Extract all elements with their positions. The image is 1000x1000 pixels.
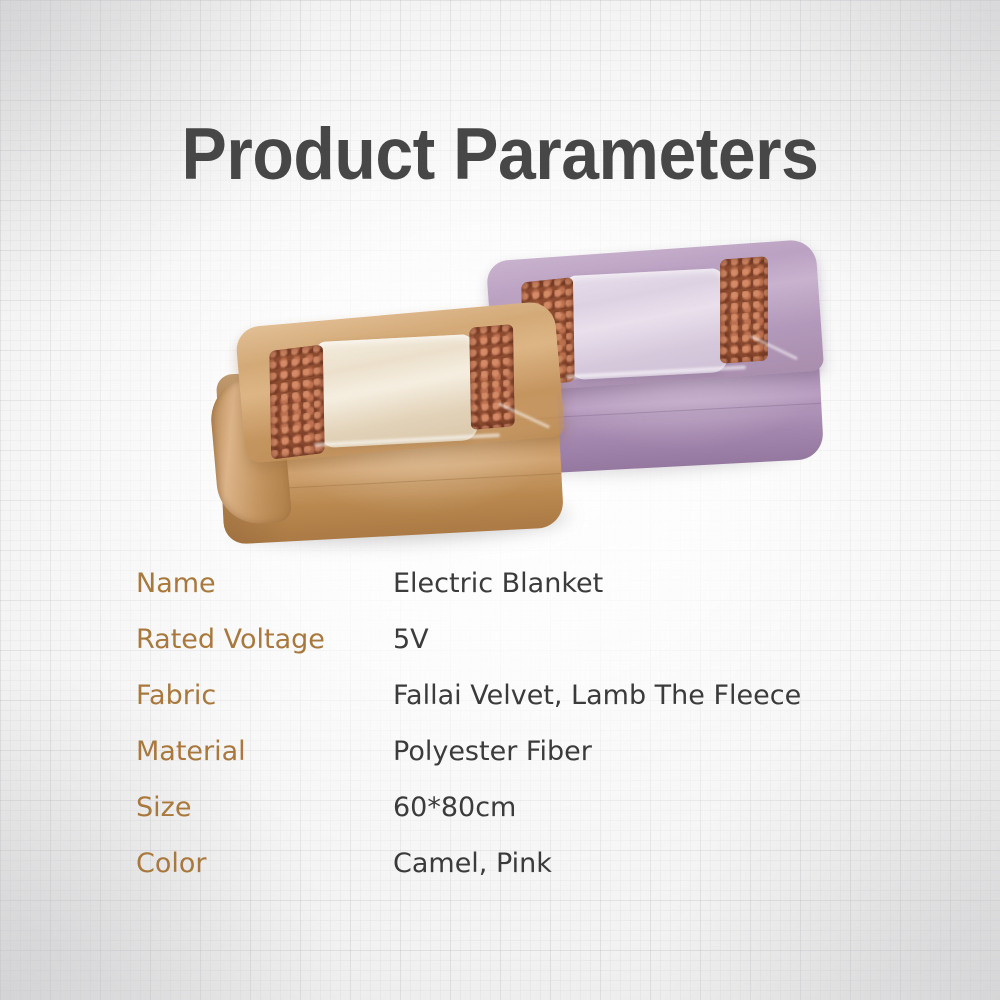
page-title: Product Parameters (35, 118, 965, 191)
table-row: Color Camel, Pink (136, 848, 936, 904)
spec-label-material: Material (136, 736, 393, 767)
spec-value-material: Polyester Fiber (393, 736, 592, 767)
product-parameters-table: Name Electric Blanket Rated Voltage 5V F… (136, 568, 936, 904)
spec-label-color: Color (136, 848, 393, 879)
spec-label-rated-voltage: Rated Voltage (136, 624, 393, 655)
spec-value-name: Electric Blanket (393, 568, 603, 599)
spec-label-fabric: Fabric (136, 680, 393, 711)
table-row: Name Electric Blanket (136, 568, 936, 624)
camel-blanket (214, 314, 564, 536)
spec-value-color: Camel, Pink (393, 848, 552, 879)
table-row: Size 60*80cm (136, 792, 936, 848)
pink-blanket-sherpa-strip-right (720, 256, 768, 364)
pink-blanket-inner-panel (565, 268, 728, 380)
table-row: Fabric Fallai Velvet, Lamb The Fleece (136, 680, 936, 736)
spec-value-fabric: Fallai Velvet, Lamb The Fleece (393, 680, 801, 711)
spec-label-size: Size (136, 792, 393, 823)
spec-label-name: Name (136, 568, 393, 599)
table-row: Material Polyester Fiber (136, 736, 936, 792)
camel-blanket-inner-panel (315, 334, 478, 448)
camel-blanket-sherpa-strip-right (469, 324, 515, 430)
spec-value-size: 60*80cm (393, 792, 516, 823)
product-photo (200, 248, 820, 560)
spec-value-rated-voltage: 5V (393, 624, 429, 655)
product-parameters-infographic: Product Parameters (0, 0, 1000, 1000)
table-row: Rated Voltage 5V (136, 624, 936, 680)
